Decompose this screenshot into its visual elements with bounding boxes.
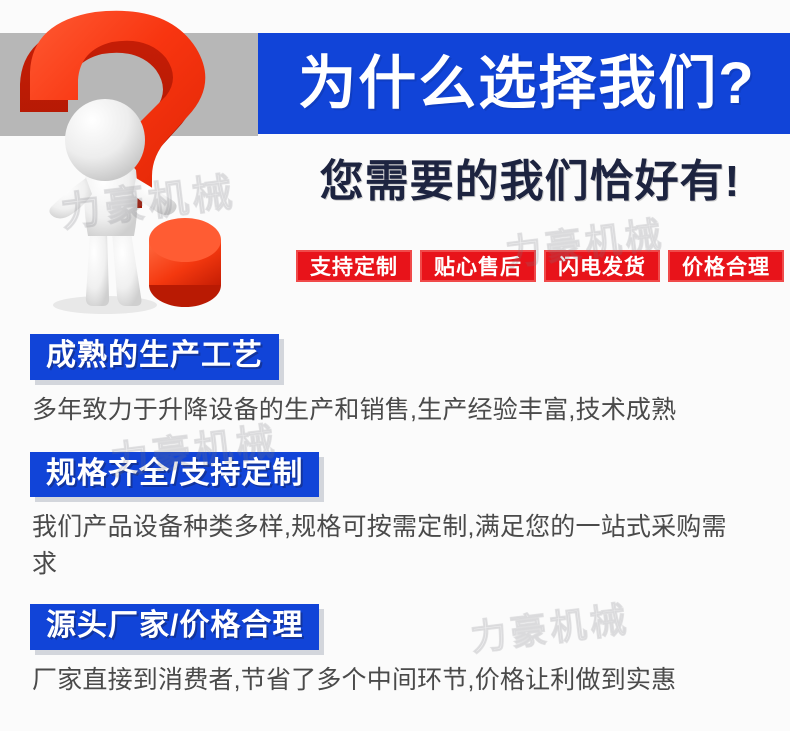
feature-heading-block-1: 成熟的生产工艺 — [30, 334, 279, 380]
feature-body-3: 厂家直接到消费者,节省了多个中间环节,价格让利做到实惠 — [32, 662, 750, 698]
feature-body-1: 多年致力于升降设备的生产和销售,生产经验丰富,技术成熟 — [32, 392, 750, 428]
promo-banner: 为什么选择我们? 您需要的我们恰好有! — [0, 0, 790, 731]
feature-item-2: 规格齐全/支持定制 我们产品设备种类多样,规格可按需定制,满足您的一站式采购需求 — [0, 452, 790, 582]
feature-heading-block-3: 源头厂家/价格合理 — [30, 604, 319, 650]
feature-body-2: 我们产品设备种类多样,规格可按需定制,满足您的一站式采购需求 — [32, 509, 750, 582]
features-section: 成熟的生产工艺 多年致力于升降设备的生产和销售,生产经验丰富,技术成熟 规格齐全… — [0, 330, 790, 698]
page-title: 为什么选择我们? — [272, 38, 782, 130]
feature-heading-1: 成熟的生产工艺 — [46, 339, 263, 373]
feature-item-3: 源头厂家/价格合理 厂家直接到消费者,节省了多个中间环节,价格让利做到实惠 — [0, 604, 790, 698]
page-subtitle: 您需要的我们恰好有! — [280, 158, 780, 206]
feature-item-1: 成熟的生产工艺 多年致力于升降设备的生产和销售,生产经验丰富,技术成熟 — [0, 334, 790, 428]
feature-heading-2: 规格齐全/支持定制 — [46, 457, 303, 491]
feature-heading-wrap-1: 成熟的生产工艺 — [30, 334, 279, 380]
feature-heading-block-2: 规格齐全/支持定制 — [30, 452, 319, 498]
badge-fair-price[interactable]: 价格合理 — [668, 250, 784, 282]
badge-after-sales[interactable]: 贴心售后 — [420, 250, 536, 282]
badge-support-custom[interactable]: 支持定制 — [296, 250, 412, 282]
feature-heading-wrap-2: 规格齐全/支持定制 — [30, 452, 319, 498]
feature-heading-3: 源头厂家/价格合理 — [46, 609, 303, 643]
feature-heading-wrap-3: 源头厂家/价格合理 — [30, 604, 319, 650]
badge-fast-shipping[interactable]: 闪电发货 — [544, 250, 660, 282]
badge-row: 支持定制 贴心售后 闪电发货 价格合理 — [296, 250, 784, 282]
gray-band — [0, 33, 258, 136]
